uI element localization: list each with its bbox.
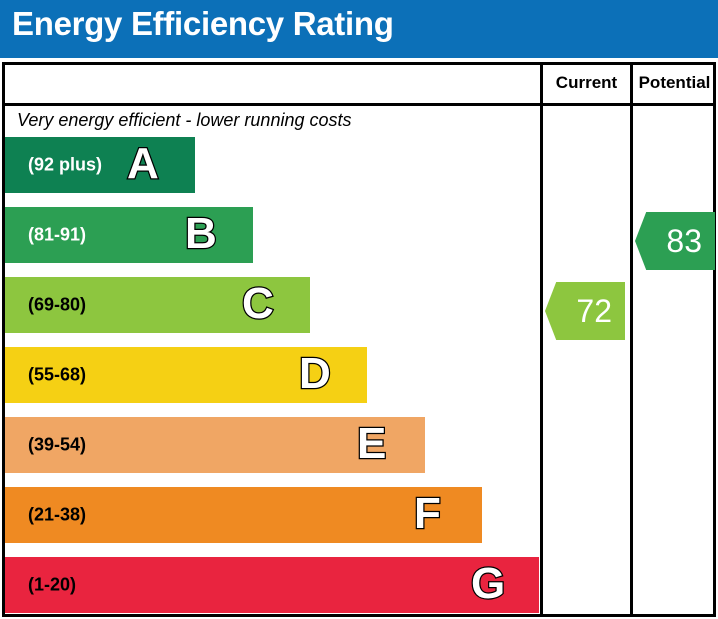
band-row-a: (92 plus) A [5, 137, 195, 193]
chart-title-bar: Energy Efficiency Rating [0, 0, 718, 58]
header-row-divider [2, 103, 716, 106]
band-row-g: (1-20) G [5, 557, 539, 613]
band-letter-d: D [299, 352, 331, 396]
band-range-g: (1-20) [28, 575, 76, 596]
band-range-d: (55-68) [28, 365, 86, 386]
band-range-b: (81-91) [28, 225, 86, 246]
caption-top: Very energy efficient - lower running co… [17, 110, 352, 131]
band-range-a: (92 plus) [28, 155, 102, 176]
band-row-f: (21-38) F [5, 487, 482, 543]
band-row-e: (39-54) E [5, 417, 425, 473]
current-column-divider [540, 62, 543, 617]
band-letter-a: A [127, 142, 159, 186]
band-range-f: (21-38) [28, 505, 86, 526]
potential-column-divider [630, 62, 633, 617]
band-row-d: (55-68) D [5, 347, 367, 403]
column-header-potential: Potential [633, 73, 716, 93]
column-header-current: Current [543, 73, 630, 93]
band-row-b: (81-91) B [5, 207, 253, 263]
band-letter-f: F [414, 492, 441, 536]
current-rating-value: 72 [576, 293, 612, 330]
band-letter-e: E [357, 422, 386, 466]
potential-rating-badge: 83 [635, 212, 715, 270]
current-rating-badge: 72 [545, 282, 625, 340]
potential-rating-value: 83 [666, 223, 702, 260]
band-range-e: (39-54) [28, 435, 86, 456]
page-title: Energy Efficiency Rating [12, 5, 394, 43]
band-letter-c: C [242, 282, 274, 326]
band-row-c: (69-80) C [5, 277, 310, 333]
band-letter-b: B [185, 212, 217, 256]
energy-efficiency-rating-chart: Energy Efficiency Rating Current Potenti… [0, 0, 718, 619]
band-range-c: (69-80) [28, 295, 86, 316]
band-letter-g: G [471, 562, 505, 606]
